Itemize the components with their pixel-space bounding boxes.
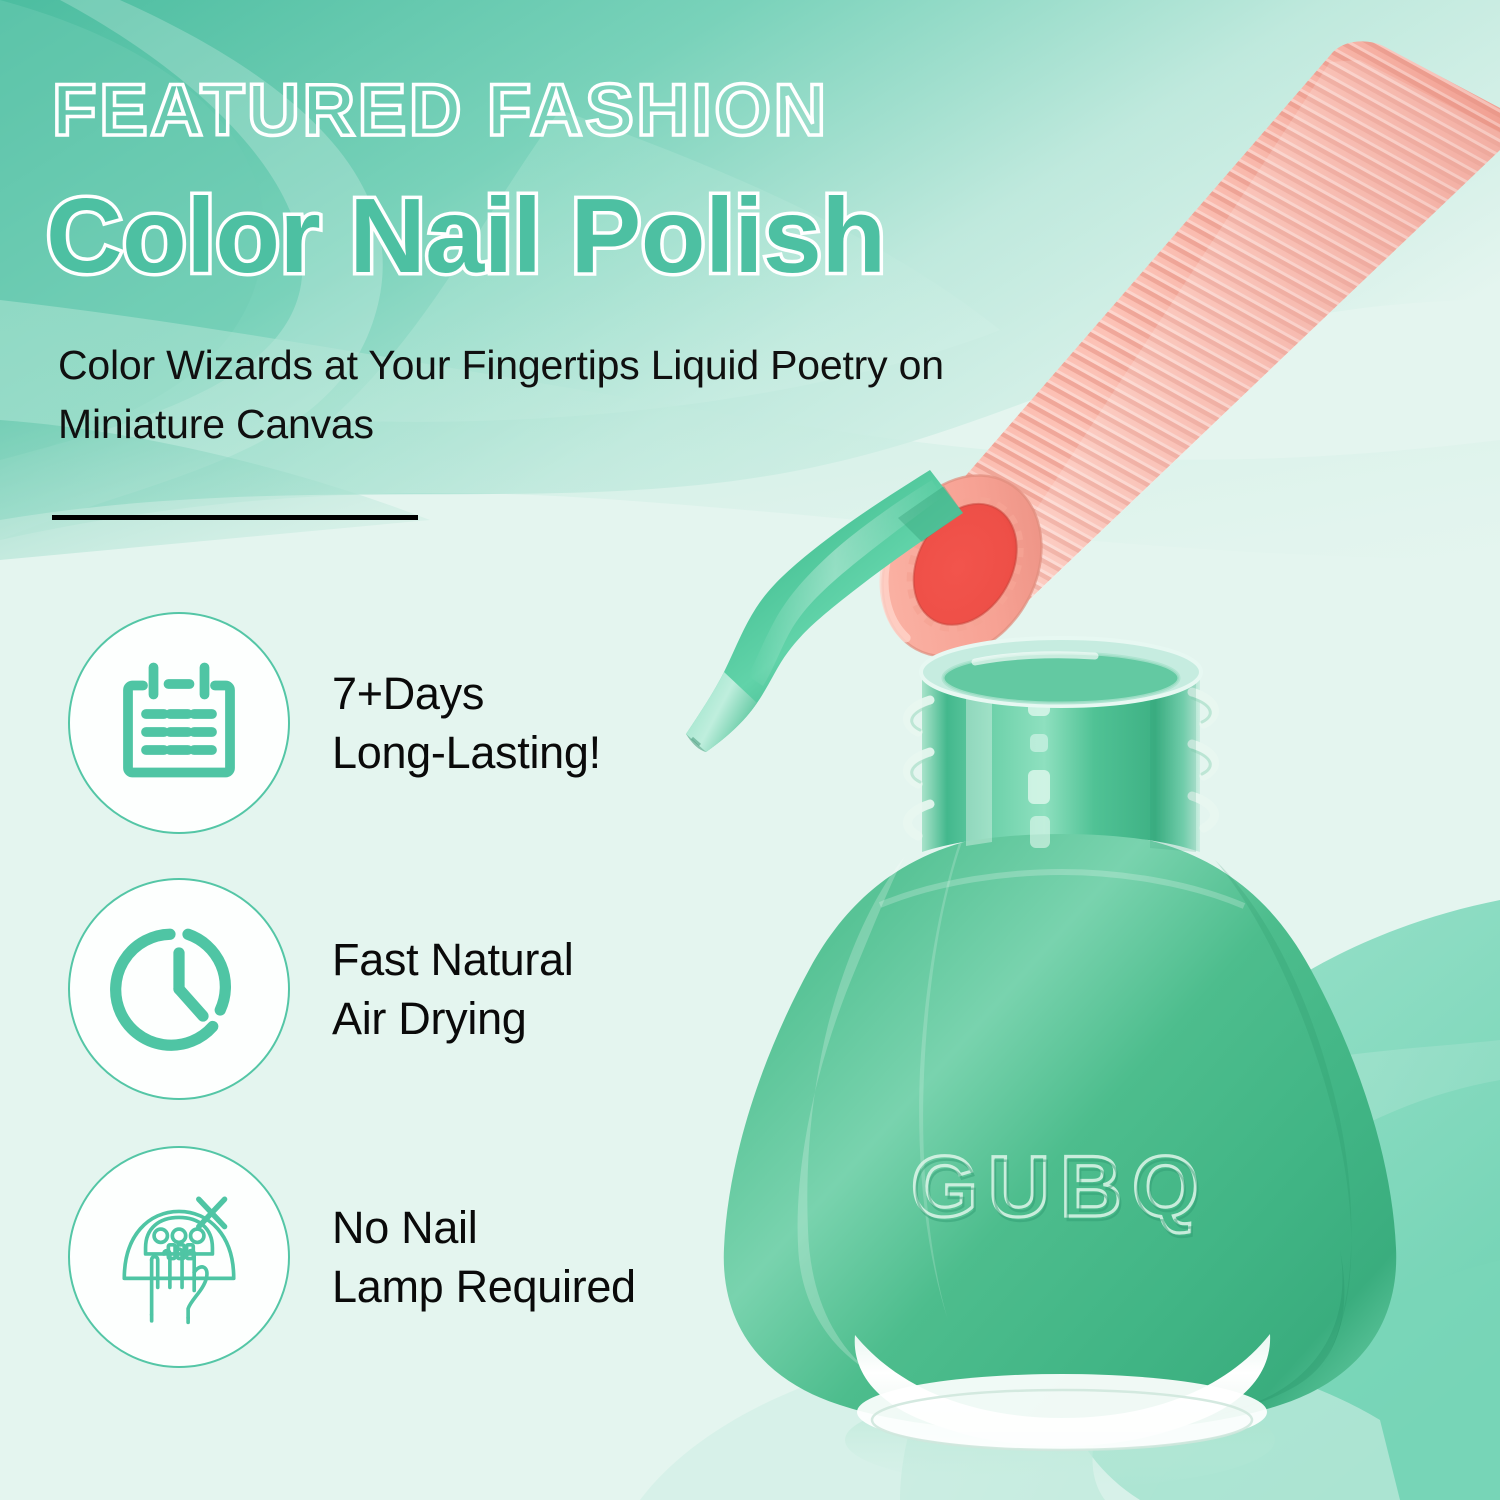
subheading-text: Color Wizards at Your Fingertips Liquid …: [58, 336, 988, 453]
feature-label: 7+Days Long-Lasting!: [332, 664, 601, 783]
page-title: Color Nail Polish: [46, 178, 886, 295]
eyebrow-text: FEATURED FASHION: [52, 74, 829, 147]
feature-item-long-lasting: 7+Days Long-Lasting!: [68, 612, 601, 834]
no-nail-lamp-icon: [103, 1181, 255, 1333]
feature-icon-badge: [68, 878, 290, 1100]
feature-item-no-lamp: No Nail Lamp Required: [68, 1146, 636, 1368]
feature-icon-badge: [68, 1146, 290, 1368]
feature-label: No Nail Lamp Required: [332, 1198, 636, 1317]
feature-label: Fast Natural Air Drying: [332, 930, 573, 1049]
feature-icon-badge: [68, 612, 290, 834]
clock-icon: [104, 914, 254, 1064]
divider: [52, 515, 418, 520]
feature-item-air-drying: Fast Natural Air Drying: [68, 878, 573, 1100]
calendar-icon: [104, 648, 254, 798]
